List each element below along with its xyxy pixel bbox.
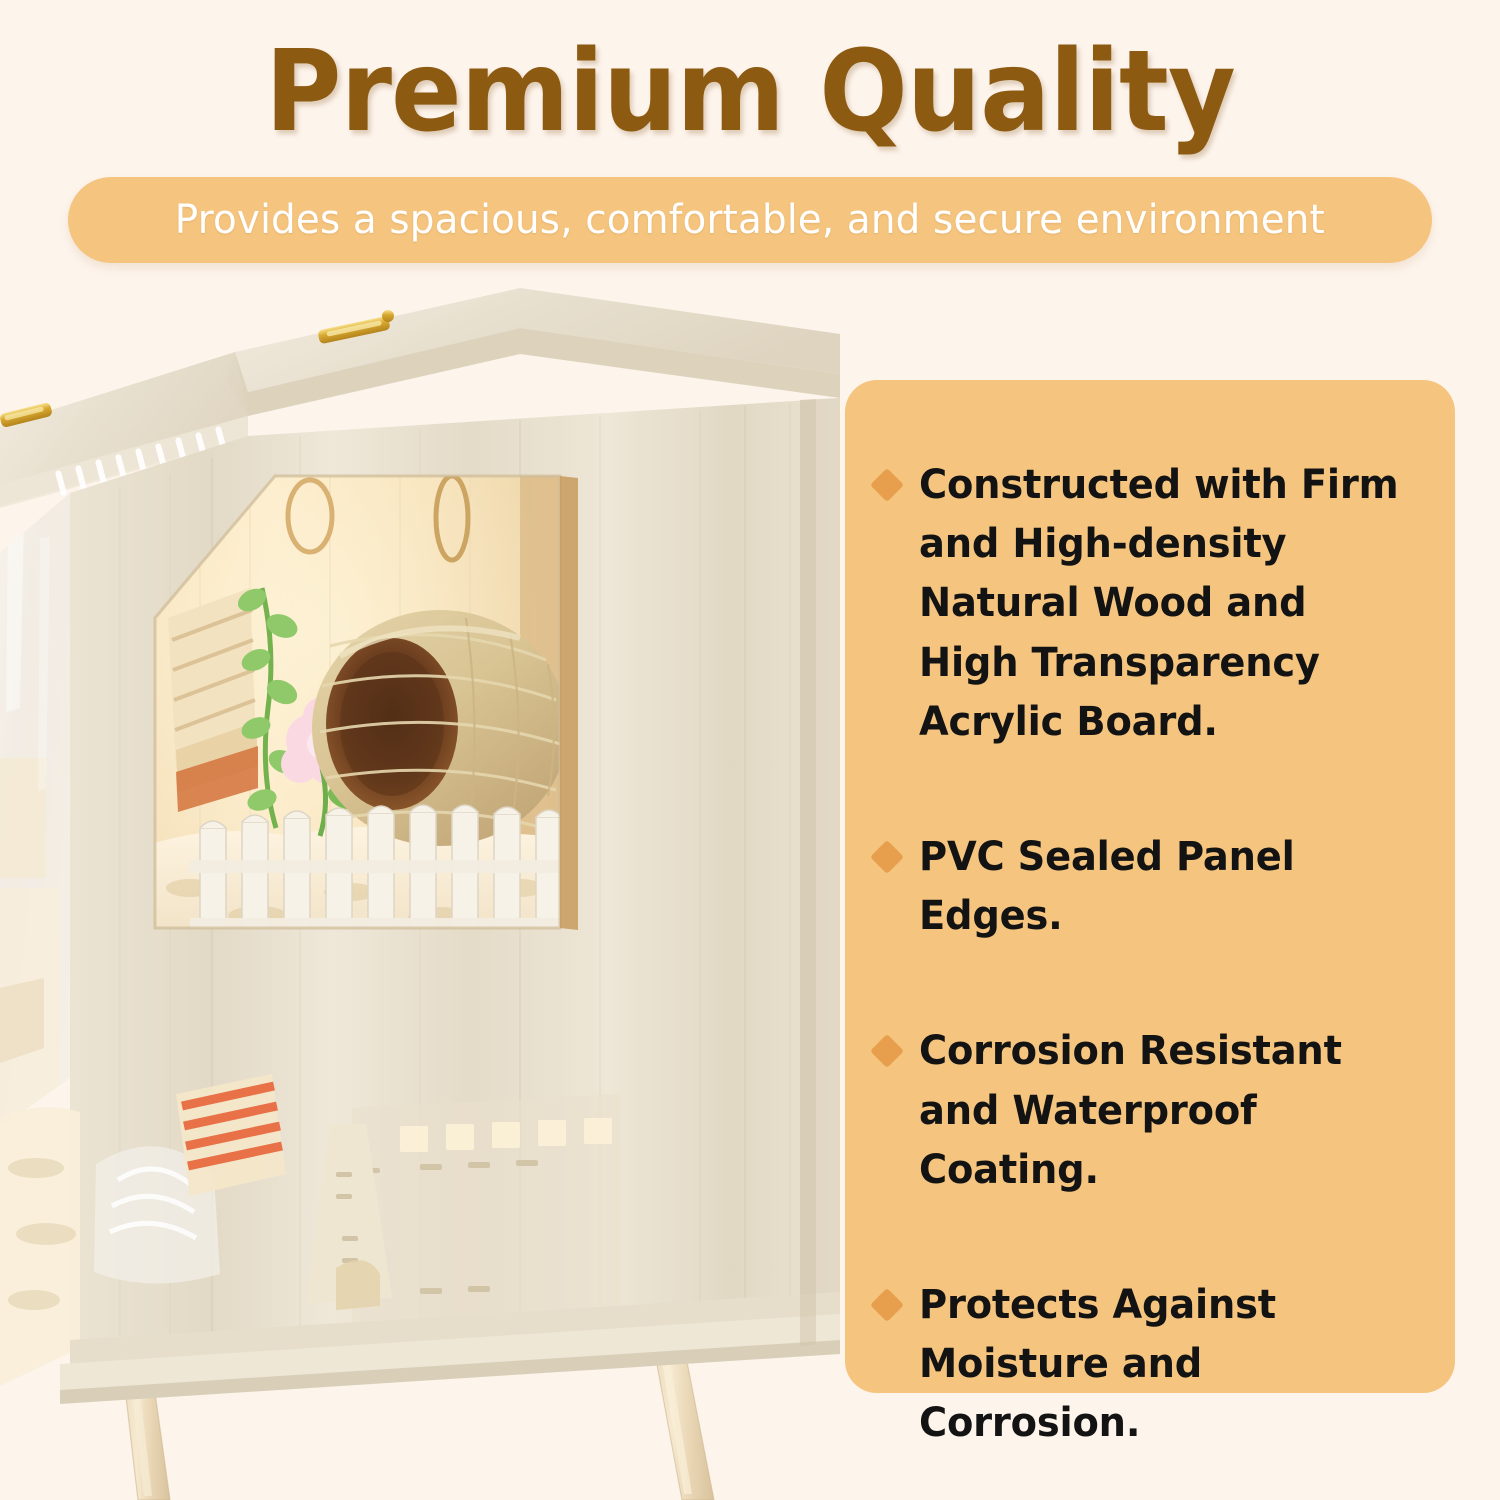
diamond-bullet-icon [870, 468, 904, 502]
orange-ladder [176, 1074, 286, 1196]
feature-text: Protects Against Moisture and Corrosion. [919, 1276, 1409, 1454]
diamond-bullet-icon [870, 1288, 904, 1322]
list-item: Protects Against Moisture and Corrosion. [861, 1276, 1429, 1454]
poster-root: Premium Quality Provides a spacious, com… [0, 0, 1500, 1500]
list-item: PVC Sealed Panel Edges. [861, 828, 1429, 946]
diamond-bullet-icon [870, 840, 904, 874]
lower-front-detail [306, 1094, 620, 1332]
feature-bullet-list: Constructed with Firm and High-density N… [861, 456, 1429, 1453]
list-item: Corrosion Resistant and Waterproof Coati… [861, 1022, 1429, 1200]
list-item: Constructed with Firm and High-density N… [861, 456, 1429, 752]
hamster-cage-illustration [0, 288, 840, 1500]
subtitle-text: Provides a spacious, comfortable, and se… [175, 197, 1325, 243]
feature-list-panel: Constructed with Firm and High-density N… [845, 380, 1455, 1393]
acrylic-side-panel [0, 488, 70, 1128]
product-photo [0, 288, 840, 1500]
page-title: Premium Quality [53, 34, 1448, 152]
subtitle-banner: Provides a spacious, comfortable, and se… [68, 177, 1432, 263]
feature-text: Constructed with Firm and High-density N… [919, 456, 1409, 752]
diamond-bullet-icon [870, 1034, 904, 1068]
straw-nest [312, 610, 568, 846]
feature-text: PVC Sealed Panel Edges. [919, 828, 1409, 946]
picket-fence [190, 805, 572, 938]
wooden-ladder [168, 588, 258, 812]
bedding-left [0, 1107, 80, 1386]
feature-text: Corrosion Resistant and Waterproof Coati… [919, 1022, 1409, 1200]
